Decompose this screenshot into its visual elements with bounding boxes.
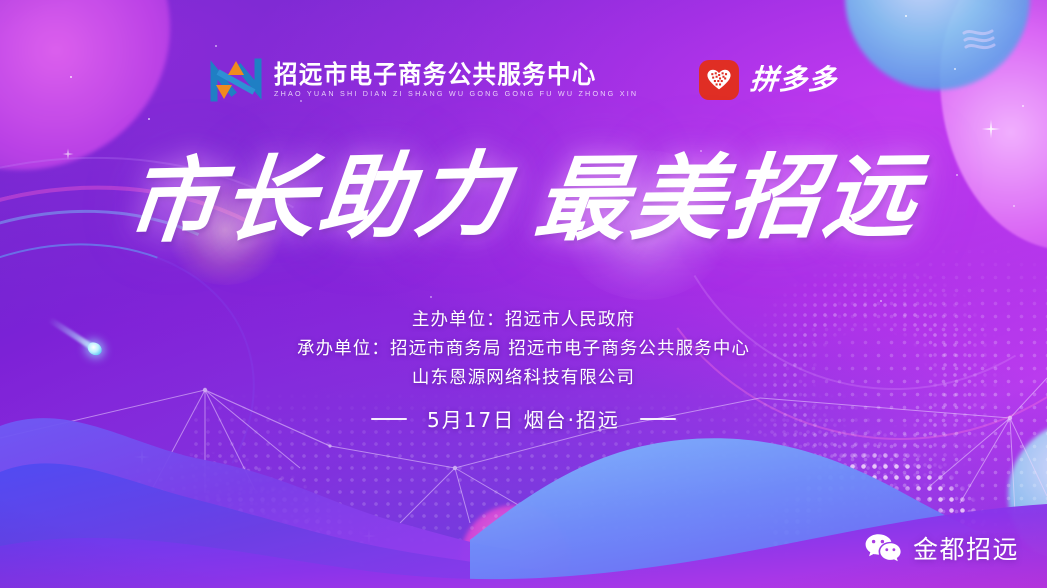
wechat-account-name: 金都招远 xyxy=(913,530,1019,566)
headline-line-a: 市长助力 xyxy=(122,146,517,251)
star-dot xyxy=(905,15,907,17)
sparkle-star-icon xyxy=(981,119,1001,139)
organizer-brand-text: 招远市电子商务公共服务中心 ZHAO YUAN SHI DIAN ZI SHAN… xyxy=(274,62,654,98)
event-dateline: 5月17日 烟台·招远 xyxy=(0,404,1047,433)
headline-line-b: 最美招远 xyxy=(530,148,925,249)
promotional-poster: 招远市电子商务公共服务中心 ZHAO YUAN SHI DIAN ZI SHAN… xyxy=(0,0,1047,588)
partner-brand: 拼多多 xyxy=(699,60,837,100)
star-dot xyxy=(430,296,432,298)
organizer-block: 主办单位：招远市人民政府 承办单位：招远市商务局 招远市电子商务公共服务中心 山… xyxy=(0,306,1047,393)
header-logos: 招远市电子商务公共服务中心 ZHAO YUAN SHI DIAN ZI SHAN… xyxy=(0,58,1047,102)
pinduoduo-heart-glyph xyxy=(706,68,732,92)
event-date-location: 5月17日 烟台·招远 xyxy=(427,404,620,433)
wechat-watermark: 金都招远 xyxy=(864,530,1019,566)
organizer-name-pinyin: ZHAO YUAN SHI DIAN ZI SHANG WU GONG GONG… xyxy=(274,90,638,98)
dateline-dash-left xyxy=(371,418,407,420)
organizer-line: 承办单位：招远市商务局 招远市电子商务公共服务中心 xyxy=(0,335,1047,364)
star-dot xyxy=(215,45,217,47)
organizer-name-cn: 招远市电子商务公共服务中心 xyxy=(274,62,631,87)
star-dot xyxy=(880,300,882,302)
pinduoduo-heart-icon xyxy=(699,60,739,100)
wechat-icon xyxy=(864,532,902,564)
partner-name-cn: 拼多多 xyxy=(749,66,838,94)
wavy-ribbon-icon xyxy=(962,27,998,55)
organizer-line: 山东恩源网络科技有限公司 xyxy=(0,364,1047,393)
zhaoyuan-n-mark-icon xyxy=(210,58,262,102)
headline-block: 市长助力最美招远 xyxy=(0,150,1047,247)
star-dot xyxy=(148,118,150,120)
organizer-brand: 招远市电子商务公共服务中心 ZHAO YUAN SHI DIAN ZI SHAN… xyxy=(210,58,654,102)
star-dot xyxy=(1022,105,1024,107)
dateline-dash-right xyxy=(640,418,676,420)
organizer-line: 主办单位：招远市人民政府 xyxy=(0,306,1047,335)
